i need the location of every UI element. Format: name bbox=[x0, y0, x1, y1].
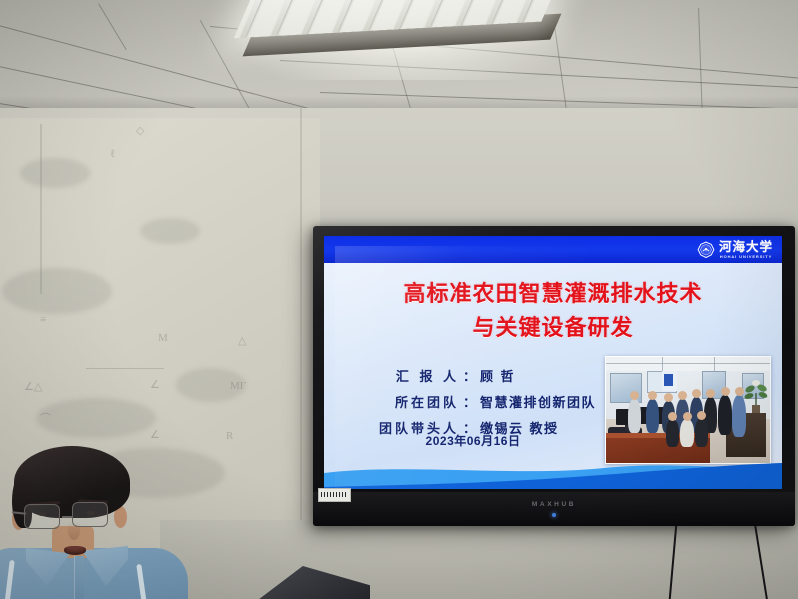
info-value: 顾 哲 bbox=[480, 366, 598, 385]
info-row: 所在团队 ： 智慧灌排创新团队 bbox=[348, 392, 598, 411]
slide-title-line-1: 高标准农田智慧灌溉排水技术 bbox=[324, 278, 782, 312]
power-led-icon bbox=[552, 513, 556, 517]
display-screen[interactable]: 河海大学 HOHAI UNIVERSITY 高标准农田智慧灌溉排水技术 与关键设… bbox=[324, 236, 782, 489]
slide-header-band: 河海大学 HOHAI UNIVERSITY bbox=[324, 236, 782, 263]
eyeglasses-left-lens bbox=[24, 504, 60, 529]
logo-text-en: HOHAI UNIVERSITY bbox=[720, 255, 772, 259]
info-colon: ： bbox=[463, 366, 476, 385]
wall-lower bbox=[160, 520, 798, 599]
display-brand-label: MAXHUB bbox=[313, 501, 795, 508]
info-label: 汇 报 人 bbox=[396, 366, 459, 385]
presenter bbox=[0, 452, 180, 599]
slide-title: 高标准农田智慧灌溉排水技术 与关键设备研发 bbox=[324, 278, 782, 346]
wall-corner-edge bbox=[300, 108, 302, 588]
slide-title-line-2: 与关键设备研发 bbox=[324, 312, 782, 346]
mouth bbox=[64, 546, 86, 555]
info-label: 所在团队 bbox=[395, 392, 459, 411]
info-value: 智慧灌排创新团队 bbox=[480, 392, 598, 411]
university-logo: 河海大学 HOHAI UNIVERSITY bbox=[697, 239, 773, 260]
group-photo bbox=[605, 356, 771, 464]
room-photo: M △ MΓ ∠ ◇ ℓ ∠△ ≡ ∠ R ⌒ bbox=[0, 0, 798, 599]
info-colon: ： bbox=[463, 392, 476, 411]
hohai-emblem-icon bbox=[697, 241, 715, 259]
presentation-slide: 河海大学 HOHAI UNIVERSITY 高标准农田智慧灌溉排水技术 与关键设… bbox=[324, 236, 782, 489]
slide-wave-dark bbox=[324, 463, 782, 489]
logo-text-cn: 河海大学 bbox=[719, 241, 773, 254]
asset-sticker bbox=[318, 488, 351, 502]
wall-display[interactable]: 河海大学 HOHAI UNIVERSITY 高标准农田智慧灌溉排水技术 与关键设… bbox=[313, 226, 795, 526]
slide-date: 2023年06月16日 bbox=[348, 432, 598, 449]
info-row: 汇 报 人 ： 顾 哲 bbox=[348, 366, 598, 385]
display-chin bbox=[313, 492, 795, 526]
